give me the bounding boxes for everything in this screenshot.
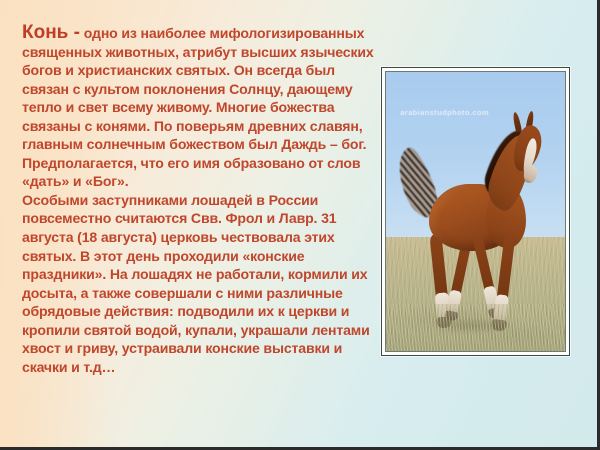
presentation-slide: Конь - одно из наиболее мифологизированн… — [0, 0, 600, 450]
lead-term: Конь - — [22, 22, 80, 43]
slide-text-block: Конь - одно из наиболее мифологизированн… — [22, 24, 374, 376]
horse-photo-frame: arabianstudphoto.com — [381, 67, 570, 356]
paragraph-2: Особыми заступниками лошадей в России по… — [22, 191, 374, 376]
photo-foreground-grass — [386, 304, 565, 351]
photo-watermark: arabianstudphoto.com — [400, 108, 489, 117]
paragraph-1: Конь - одно из наиболее мифологизированн… — [22, 24, 374, 191]
paragraph-1-text: одно из наиболее мифологизированных свящ… — [22, 25, 374, 189]
horse-photo: arabianstudphoto.com — [385, 71, 566, 352]
